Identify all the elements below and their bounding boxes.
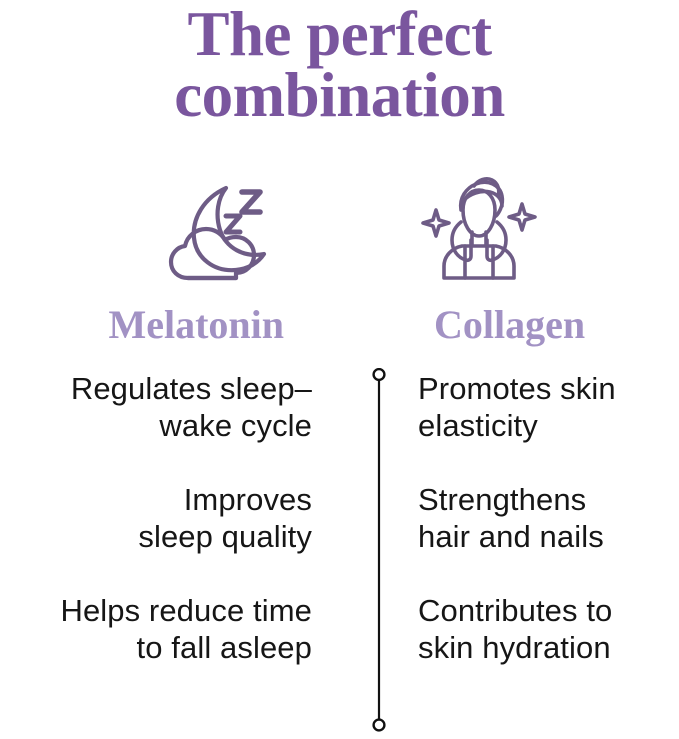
benefit-item: Promotes skin elasticity: [418, 370, 678, 481]
benefit-item: Improves sleep quality: [0, 481, 312, 592]
heading-melatonin: Melatonin: [0, 302, 312, 348]
infographic-page: The perfect combination Melatonin: [0, 0, 679, 739]
page-title: The perfect combination: [0, 4, 679, 126]
benefit-line: Helps reduce time: [60, 592, 312, 629]
benefit-line: hair and nails: [418, 518, 604, 555]
benefit-line: Promotes skin: [418, 370, 616, 407]
woman-towel-sparkles-icon: [418, 174, 540, 284]
benefit-item: Strengthens hair and nails: [418, 481, 678, 592]
collagen-icon-wrap: [418, 170, 678, 288]
benefit-line: wake cycle: [159, 407, 312, 444]
comparison-columns: Melatonin Regulates sleep– wake cycle Im…: [0, 170, 679, 703]
benefit-line: Improves: [184, 481, 312, 518]
benefit-item: Contributes to skin hydration: [418, 592, 678, 703]
benefit-item: Helps reduce time to fall asleep: [0, 592, 312, 703]
heading-collagen: Collagen: [418, 302, 678, 348]
column-collagen: Collagen Promotes skin elasticity Streng…: [339, 170, 678, 703]
benefit-line: elasticity: [418, 407, 538, 444]
benefit-line: skin hydration: [418, 629, 611, 666]
benefit-item: Regulates sleep– wake cycle: [0, 370, 312, 481]
benefit-line: Contributes to: [418, 592, 612, 629]
column-melatonin: Melatonin Regulates sleep– wake cycle Im…: [0, 170, 339, 703]
benefit-line: sleep quality: [138, 518, 312, 555]
melatonin-icon-wrap: [0, 170, 312, 288]
benefits-melatonin: Regulates sleep– wake cycle Improves sle…: [0, 370, 312, 703]
title-line-1: The perfect: [0, 4, 679, 65]
divider-bottom-dot: [374, 720, 385, 731]
title-line-2: combination: [0, 65, 679, 126]
benefit-line: to fall asleep: [137, 629, 312, 666]
benefit-line: Strengthens: [418, 481, 586, 518]
moon-cloud-zzz-icon: [164, 174, 282, 284]
benefits-collagen: Promotes skin elasticity Strengthens hai…: [418, 370, 678, 703]
benefit-line: Regulates sleep–: [71, 370, 312, 407]
